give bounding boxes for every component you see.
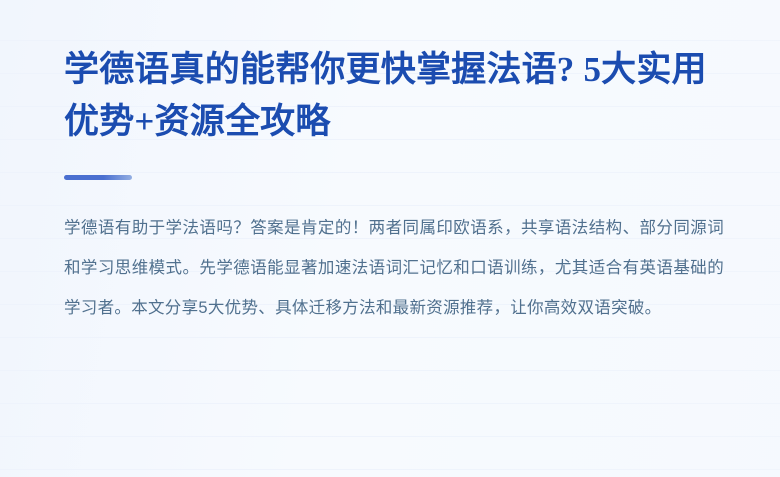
article-hero-card: 学德语真的能帮你更快掌握法语? 5大实用优势+资源全攻略 学德语有助于学法语吗？… xyxy=(0,0,780,477)
article-summary: 学德语有助于学法语吗？答案是肯定的！两者同属印欧语系，共享语法结构、部分同源词和… xyxy=(64,208,724,328)
article-content: 学德语真的能帮你更快掌握法语? 5大实用优势+资源全攻略 学德语有助于学法语吗？… xyxy=(64,44,734,345)
article-headline: 学德语真的能帮你更快掌握法语? 5大实用优势+资源全攻略 xyxy=(64,44,734,148)
headline-divider xyxy=(64,175,132,180)
